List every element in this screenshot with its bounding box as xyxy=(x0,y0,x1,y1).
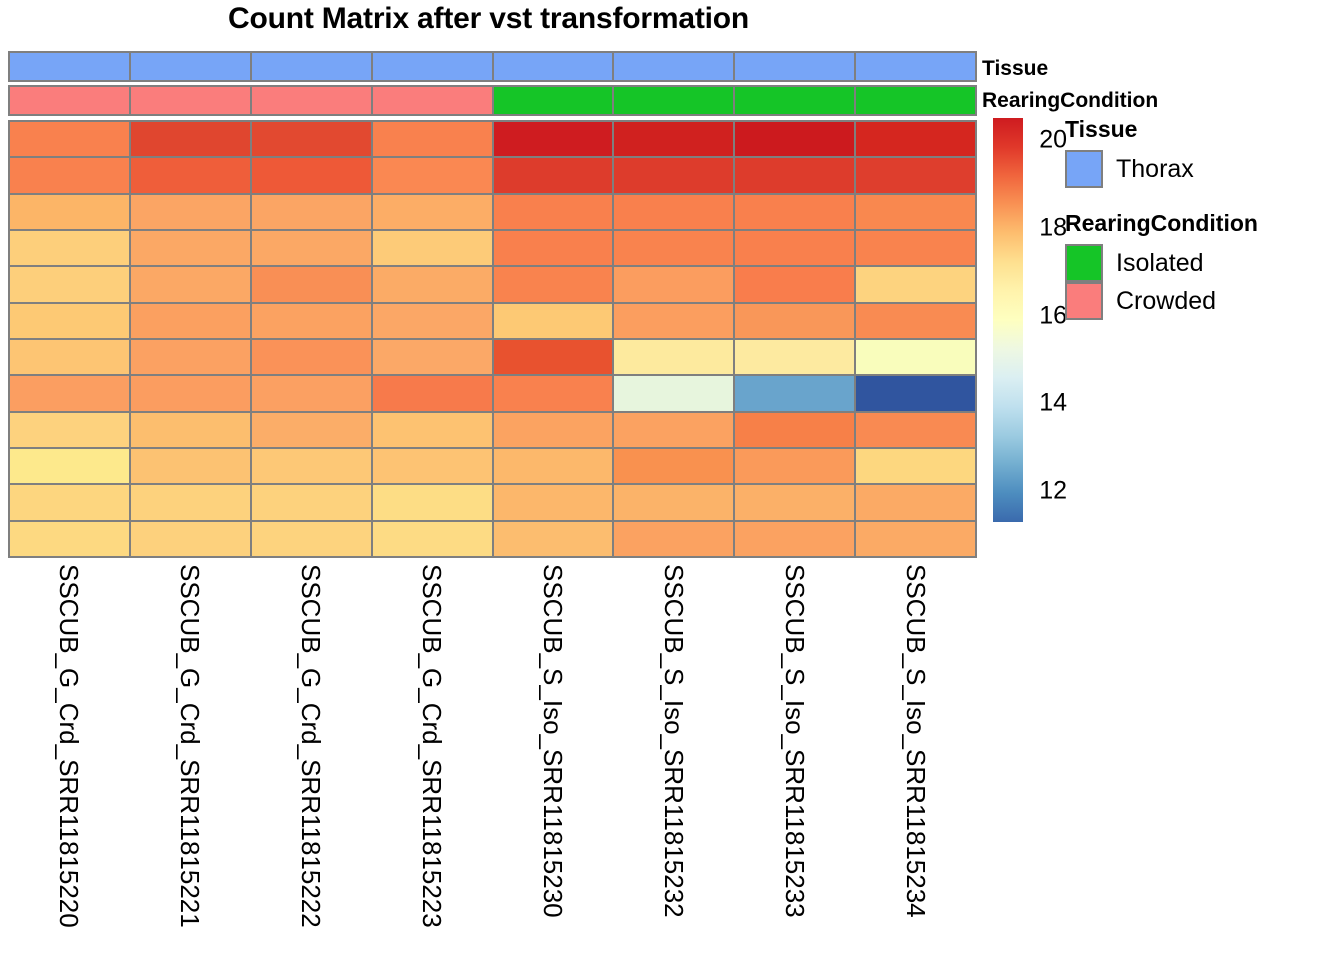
annotation-cell xyxy=(856,53,975,80)
heatmap-cell xyxy=(735,195,856,229)
annotation-cell xyxy=(373,87,494,114)
heatmap-cell xyxy=(614,122,735,156)
annotation-bar-tissue xyxy=(8,51,977,82)
heatmap-cell xyxy=(131,485,252,519)
heatmap-cell xyxy=(10,340,131,374)
colorbar-tick-20: 20 xyxy=(1039,127,1067,152)
annotation-cell xyxy=(494,87,615,114)
heatmap-cell xyxy=(614,267,735,301)
heatmap-cell xyxy=(735,485,856,519)
column-label: SSCUB_G_Crd_SRR11815220 xyxy=(56,564,82,928)
heatmap-cell xyxy=(735,122,856,156)
column-label-slot: SSCUB_S_Iso_SRR11815234 xyxy=(856,560,977,956)
legend-title: Tissue xyxy=(1065,118,1194,141)
heatmap-cell xyxy=(614,304,735,338)
annotation-cell xyxy=(373,53,494,80)
heatmap-cell xyxy=(131,267,252,301)
annotation-cell xyxy=(614,87,735,114)
heatmap-cell xyxy=(131,522,252,556)
heatmap-cell xyxy=(614,485,735,519)
heatmap-cell xyxy=(494,195,615,229)
heatmap-cell xyxy=(10,413,131,447)
column-label-slot: SSCUB_G_Crd_SRR11815223 xyxy=(371,560,492,956)
heatmap-cell xyxy=(856,522,975,556)
heatmap-cell xyxy=(856,449,975,483)
column-label-slot: SSCUB_S_Iso_SRR11815232 xyxy=(614,560,735,956)
column-label-slot: SSCUB_G_Crd_SRR11815221 xyxy=(129,560,250,956)
legend-item[interactable]: Isolated xyxy=(1065,244,1258,282)
heatmap-cell xyxy=(373,195,494,229)
page-title: Count Matrix after vst transformation xyxy=(0,2,977,36)
heatmap-cell xyxy=(494,485,615,519)
annotation-cell xyxy=(614,53,735,80)
legend-swatch xyxy=(1065,282,1103,320)
heatmap-cell xyxy=(131,122,252,156)
column-label: SSCUB_S_Iso_SRR11815233 xyxy=(782,564,808,918)
heatmap-cell xyxy=(735,376,856,410)
heatmap-row xyxy=(10,522,975,556)
column-label-slot: SSCUB_S_Iso_SRR11815230 xyxy=(493,560,614,956)
heatmap-row xyxy=(10,340,975,376)
heatmap-cell xyxy=(494,122,615,156)
heatmap-cell xyxy=(10,267,131,301)
colorbar-tick-16: 16 xyxy=(1039,303,1067,328)
heatmap-cell xyxy=(252,449,373,483)
heatmap-cell xyxy=(494,413,615,447)
legend-title: RearingCondition xyxy=(1065,212,1258,235)
heatmap-cell xyxy=(252,267,373,301)
column-label: SSCUB_G_Crd_SRR11815223 xyxy=(419,564,445,928)
annotation-cell xyxy=(735,87,856,114)
annotation-cell xyxy=(10,53,131,80)
heatmap-cell xyxy=(373,122,494,156)
heatmap-cell xyxy=(614,195,735,229)
annotation-label-rearingcondition: RearingCondition xyxy=(982,90,1158,111)
heatmap-cell xyxy=(494,522,615,556)
annotation-cell xyxy=(494,53,615,80)
heatmap-cell xyxy=(494,267,615,301)
heatmap-cell xyxy=(373,158,494,192)
heatmap-cell xyxy=(614,231,735,265)
heatmap-row xyxy=(10,122,975,158)
annotation-cell xyxy=(252,53,373,80)
annotation-bar-rearingcondition xyxy=(8,85,977,116)
heatmap-cell xyxy=(735,449,856,483)
heatmap-cell xyxy=(373,485,494,519)
legend-item-label: Isolated xyxy=(1116,251,1204,276)
heatmap-cell xyxy=(10,231,131,265)
heatmap-cell xyxy=(10,485,131,519)
heatmap-cell xyxy=(494,376,615,410)
heatmap-cell xyxy=(856,122,975,156)
heatmap-row xyxy=(10,449,975,485)
legend-item[interactable]: Crowded xyxy=(1065,282,1258,320)
heatmap-cell xyxy=(10,376,131,410)
heatmap-row xyxy=(10,413,975,449)
column-axis-labels: SSCUB_G_Crd_SRR11815220SSCUB_G_Crd_SRR11… xyxy=(8,560,977,956)
colorbar-tick-18: 18 xyxy=(1039,215,1067,240)
heatmap-cell xyxy=(10,449,131,483)
annotation-cell xyxy=(856,87,975,114)
heatmap-cell xyxy=(373,522,494,556)
heatmap-row xyxy=(10,376,975,412)
heatmap-cell xyxy=(373,376,494,410)
annotation-label-tissue: Tissue xyxy=(982,58,1048,79)
heatmap-cell xyxy=(373,413,494,447)
heatmap-cell xyxy=(131,158,252,192)
heatmap-cell xyxy=(856,376,975,410)
heatmap-cell xyxy=(373,449,494,483)
heatmap-cell xyxy=(131,304,252,338)
column-label: SSCUB_S_Iso_SRR11815230 xyxy=(540,564,566,918)
column-label: SSCUB_G_Crd_SRR11815221 xyxy=(177,564,203,928)
column-label: SSCUB_S_Iso_SRR11815234 xyxy=(903,564,929,918)
heatmap-cell xyxy=(252,522,373,556)
heatmap-cell xyxy=(10,158,131,192)
heatmap-cell xyxy=(856,195,975,229)
heatmap-cell xyxy=(131,340,252,374)
heatmap-cell xyxy=(131,413,252,447)
heatmap-cell xyxy=(856,231,975,265)
heatmap-cell xyxy=(494,449,615,483)
column-label: SSCUB_S_Iso_SRR11815232 xyxy=(661,564,687,918)
legend-item[interactable]: Thorax xyxy=(1065,150,1194,188)
heatmap-cell xyxy=(735,267,856,301)
heatmap-cell xyxy=(252,340,373,374)
heatmap-cell xyxy=(614,340,735,374)
heatmap-cell xyxy=(10,522,131,556)
colorbar-tick-12: 12 xyxy=(1039,479,1067,504)
heatmap-cell xyxy=(856,485,975,519)
heatmap-cell xyxy=(373,267,494,301)
annotation-cell xyxy=(735,53,856,80)
heatmap-cell xyxy=(856,267,975,301)
heatmap-cell xyxy=(856,340,975,374)
legend-rearingcondition: RearingConditionIsolatedCrowded xyxy=(1065,212,1258,320)
legend-swatch xyxy=(1065,244,1103,282)
heatmap-cell xyxy=(614,376,735,410)
heatmap-cell xyxy=(10,195,131,229)
heatmap-cell xyxy=(252,376,373,410)
heatmap-cell xyxy=(252,485,373,519)
heatmap-cell xyxy=(494,231,615,265)
heatmap-cell xyxy=(735,304,856,338)
heatmap-cell xyxy=(614,449,735,483)
heatmap-cell xyxy=(252,304,373,338)
heatmap-cell xyxy=(735,340,856,374)
annotation-cell xyxy=(131,87,252,114)
heatmap-cell xyxy=(252,413,373,447)
annotation-cell xyxy=(10,87,131,114)
heatmap-cell xyxy=(252,231,373,265)
legend-item-label: Crowded xyxy=(1116,289,1216,314)
heatmap-cell xyxy=(494,304,615,338)
heatmap-row xyxy=(10,267,975,303)
heatmap-cell xyxy=(131,231,252,265)
heatmap-cell xyxy=(856,413,975,447)
heatmap-row xyxy=(10,231,975,267)
heatmap-cell xyxy=(373,231,494,265)
column-label-slot: SSCUB_S_Iso_SRR11815233 xyxy=(735,560,856,956)
colorbar-tick-14: 14 xyxy=(1039,391,1067,416)
heatmap-row xyxy=(10,485,975,521)
heatmap-cell xyxy=(856,158,975,192)
heatmap-grid xyxy=(8,120,977,558)
heatmap-cell xyxy=(614,158,735,192)
column-label-slot: SSCUB_G_Crd_SRR11815220 xyxy=(8,560,129,956)
heatmap-row xyxy=(10,304,975,340)
heatmap-cell xyxy=(10,122,131,156)
heatmap-cell xyxy=(735,413,856,447)
heatmap-cell xyxy=(735,158,856,192)
heatmap-cell xyxy=(131,195,252,229)
heatmap-cell xyxy=(614,413,735,447)
heatmap-cell xyxy=(494,158,615,192)
heatmap-cell xyxy=(131,376,252,410)
heatmap-cell xyxy=(494,340,615,374)
heatmap-cell xyxy=(10,304,131,338)
heatmap-cell xyxy=(735,522,856,556)
legend-tissue: TissueThorax xyxy=(1065,118,1194,188)
column-label: SSCUB_G_Crd_SRR11815222 xyxy=(298,564,324,928)
colorbar-tick-labels: 2018161412 xyxy=(1023,118,1069,522)
legend-swatch xyxy=(1065,150,1103,188)
annotation-cell xyxy=(131,53,252,80)
heatmap-cell xyxy=(735,231,856,265)
heatmap-row xyxy=(10,195,975,231)
heatmap-cell xyxy=(252,122,373,156)
heatmap-cell xyxy=(856,304,975,338)
heatmap-row xyxy=(10,158,975,194)
colorbar-gradient xyxy=(993,118,1023,522)
heatmap-cell xyxy=(373,340,494,374)
heatmap-cell xyxy=(373,304,494,338)
legend-item-label: Thorax xyxy=(1116,157,1194,182)
heatmap-cell xyxy=(131,449,252,483)
heatmap-figure: Count Matrix after vst transformation Ti… xyxy=(0,0,1344,960)
heatmap-cell xyxy=(252,195,373,229)
column-label-slot: SSCUB_G_Crd_SRR11815222 xyxy=(250,560,371,956)
heatmap-cell xyxy=(252,158,373,192)
heatmap-cell xyxy=(614,522,735,556)
annotation-cell xyxy=(252,87,373,114)
